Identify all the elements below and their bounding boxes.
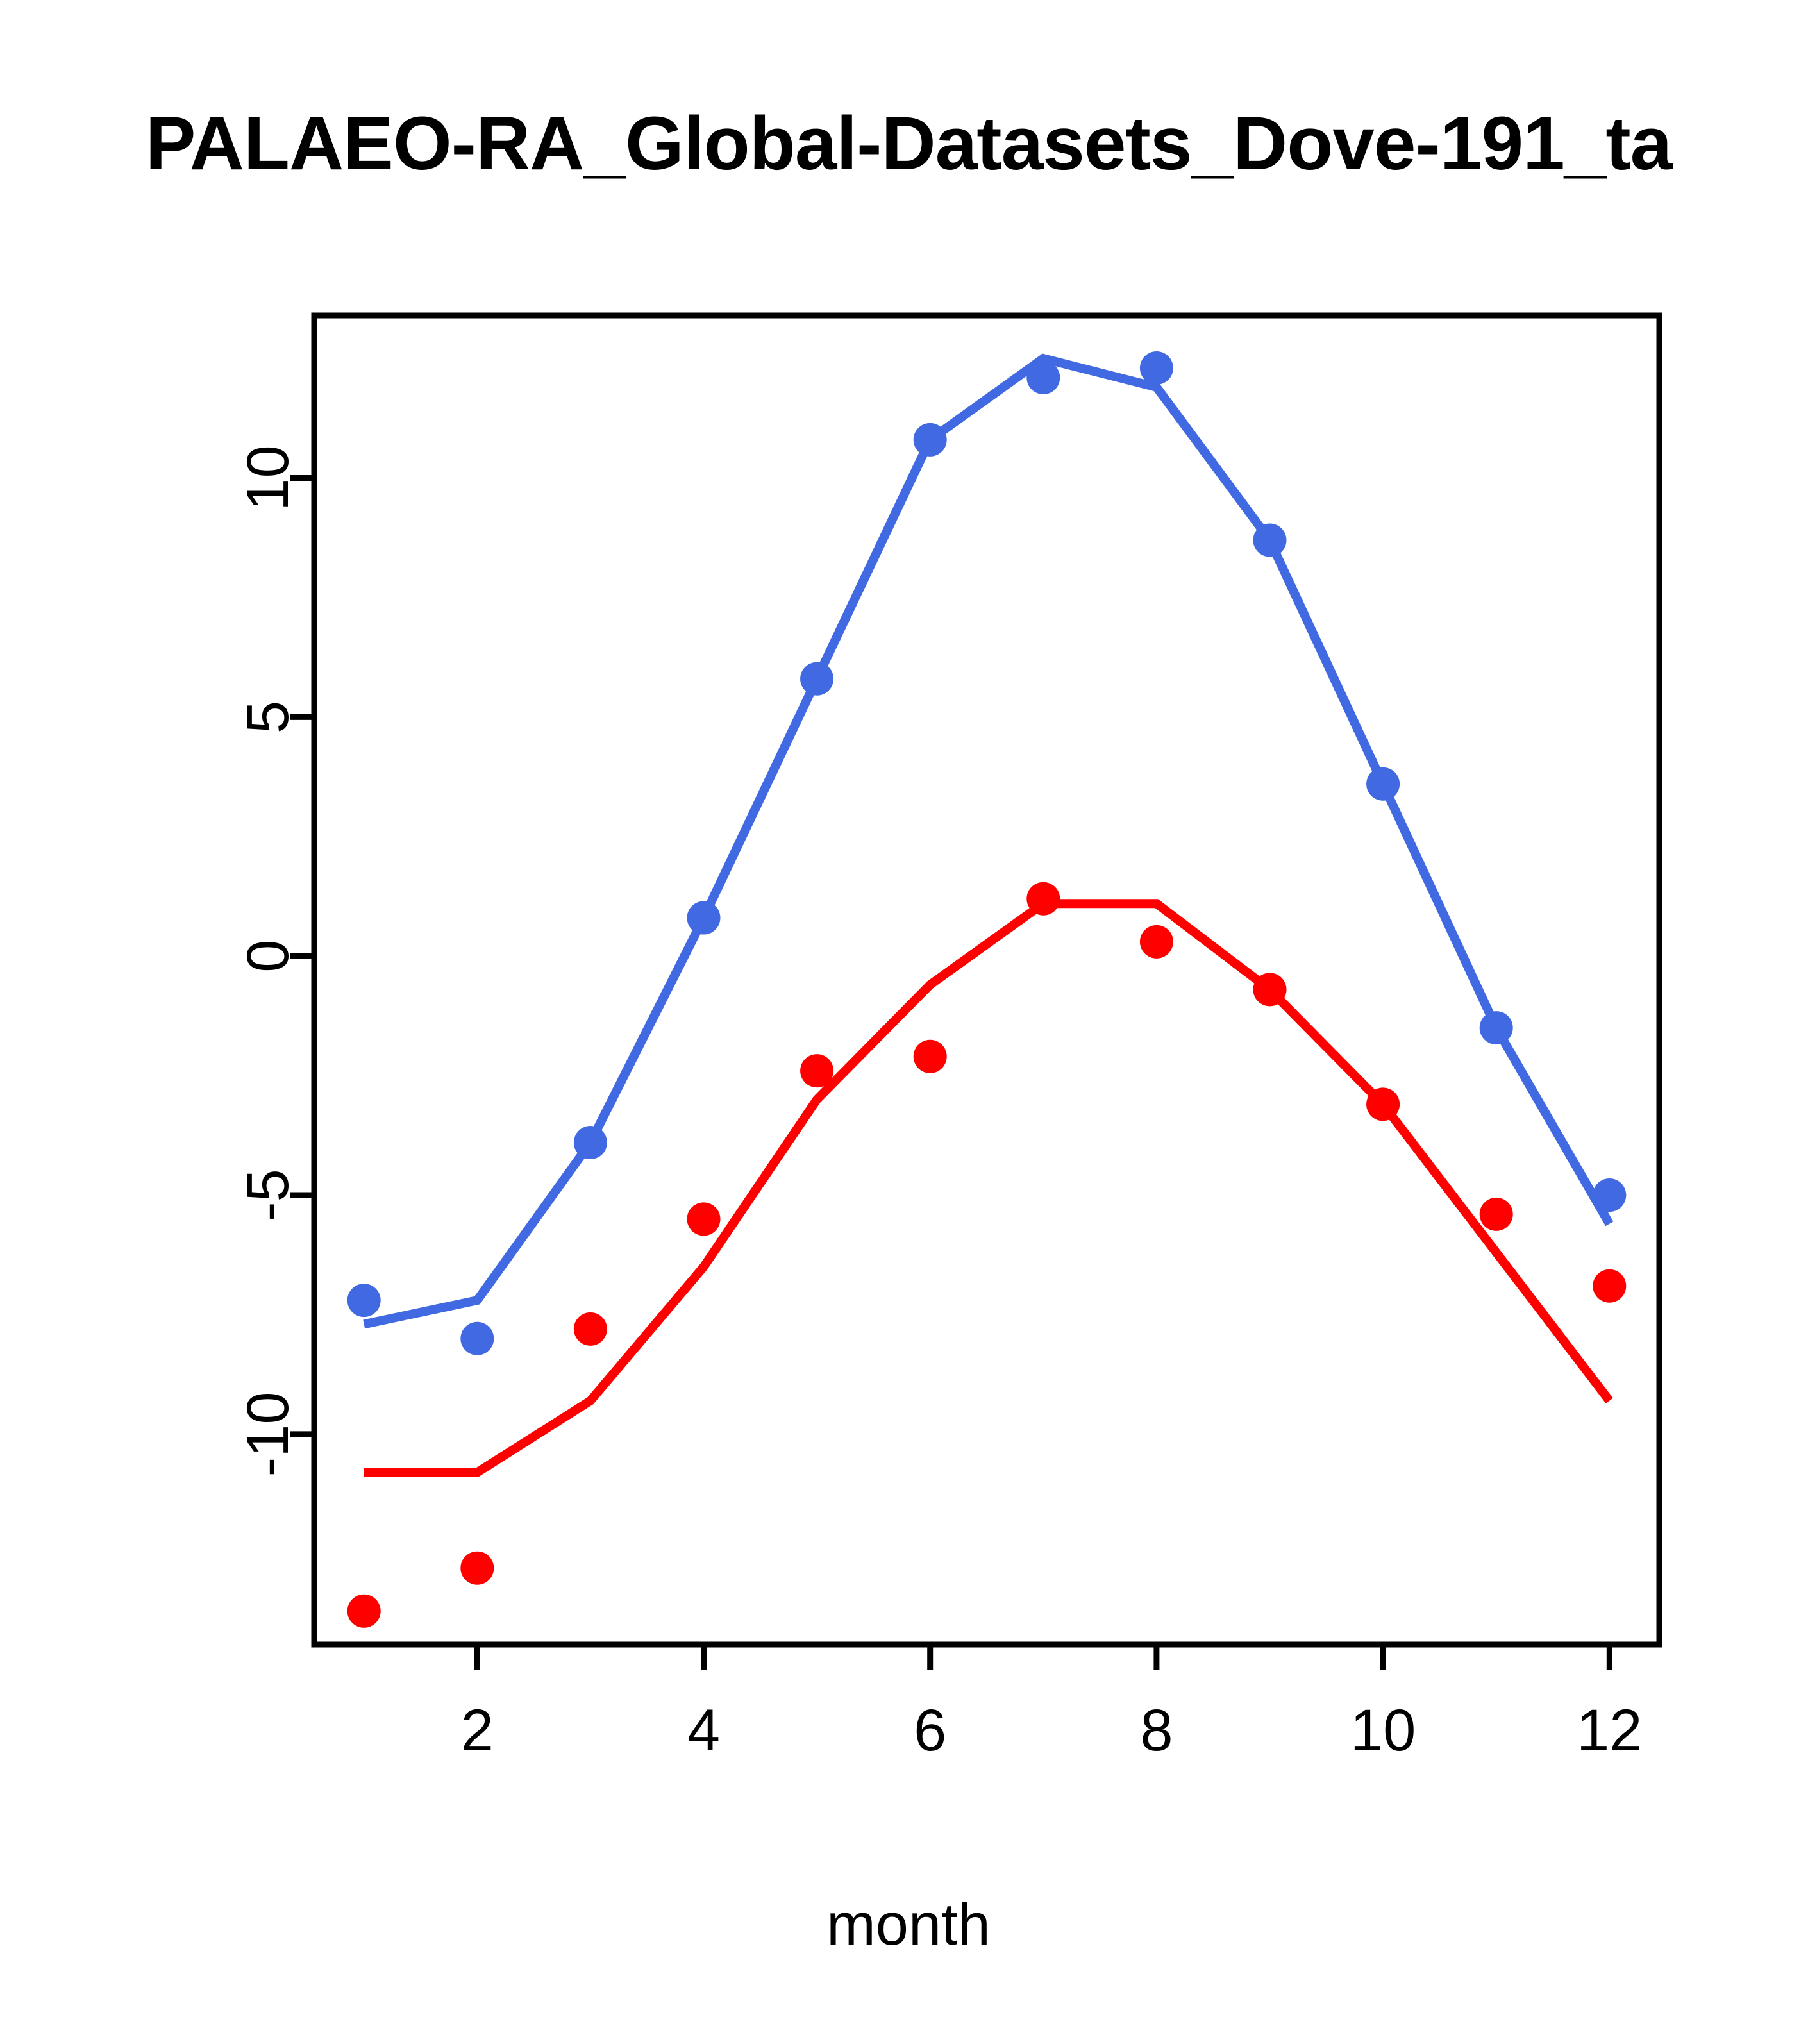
data-point <box>460 1552 494 1585</box>
series-red-line <box>364 903 1610 1472</box>
x-tick-label: 12 <box>1577 1698 1642 1763</box>
plot-figure: PALAEO-RA_Global-Datasets_Dove-191_ta 10… <box>0 0 1817 2044</box>
data-point <box>1593 1178 1626 1212</box>
data-point <box>1480 1011 1513 1044</box>
data-point <box>800 1054 833 1087</box>
data-point <box>1253 523 1286 557</box>
x-axis-tick-labels: 24681012 <box>461 1698 1643 1763</box>
y-tick-label: -10 <box>235 1391 301 1477</box>
data-point <box>460 1322 494 1355</box>
chart-canvas: 1050-5-10 24681012 <box>0 0 1817 2044</box>
data-point <box>1366 767 1400 801</box>
data-point <box>1593 1269 1626 1303</box>
data-point <box>800 662 833 696</box>
data-point <box>574 1126 607 1159</box>
data-point <box>347 1595 381 1628</box>
x-tick-label: 8 <box>1140 1698 1173 1763</box>
series-red-points <box>347 882 1627 1628</box>
data-point <box>574 1312 607 1346</box>
x-tick-label: 6 <box>914 1698 946 1763</box>
y-tick-label: 10 <box>235 445 301 510</box>
x-axis-ticks <box>477 1645 1609 1670</box>
y-tick-label: 0 <box>235 940 301 973</box>
data-point <box>1140 351 1173 385</box>
x-tick-label: 2 <box>461 1698 494 1763</box>
x-tick-label: 10 <box>1350 1698 1416 1763</box>
data-point <box>687 1202 721 1236</box>
data-point <box>347 1284 381 1317</box>
x-tick-label: 4 <box>687 1698 720 1763</box>
data-point <box>914 1040 947 1073</box>
data-point <box>1026 882 1060 916</box>
data-point <box>1253 973 1286 1006</box>
series-layer <box>347 351 1627 1628</box>
y-axis-tick-labels: 1050-5-10 <box>235 445 301 1477</box>
y-tick-label: 5 <box>235 701 301 733</box>
y-tick-label: -5 <box>235 1169 301 1221</box>
series-line <box>364 903 1610 1472</box>
data-point <box>1480 1198 1513 1231</box>
data-point <box>1140 925 1173 959</box>
series-blue-line <box>364 358 1610 1324</box>
data-point <box>1366 1087 1400 1121</box>
data-point <box>914 423 947 457</box>
x-axis-label: month <box>0 1891 1817 1959</box>
series-line <box>364 358 1610 1324</box>
series-blue-points <box>347 351 1627 1355</box>
data-point <box>687 901 721 935</box>
data-point <box>1026 361 1060 394</box>
